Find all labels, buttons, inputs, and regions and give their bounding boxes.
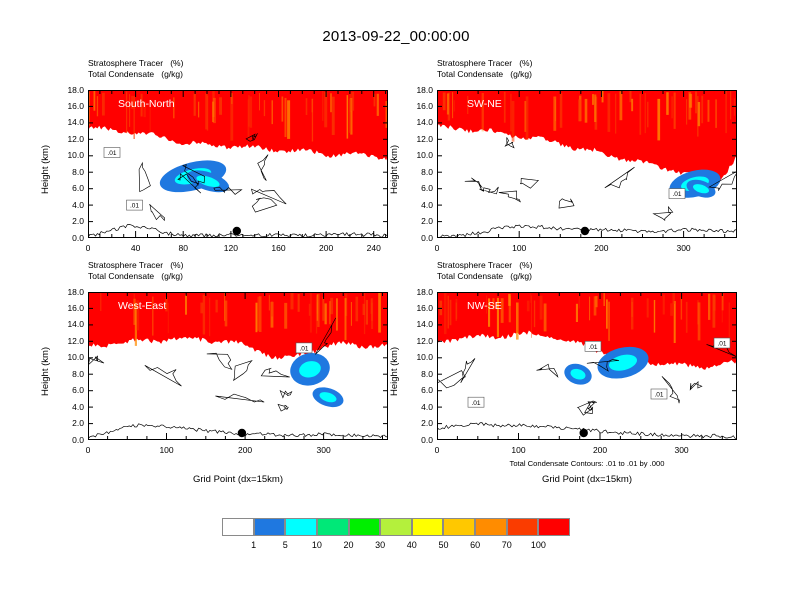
ytick-label: 8.0 <box>403 167 433 177</box>
colorbar-cell[interactable] <box>443 518 475 536</box>
colorbar-cell[interactable] <box>507 518 539 536</box>
svg-text:.01: .01 <box>717 341 726 348</box>
ytick-label: 14.0 <box>403 117 433 127</box>
xtick-label: 200 <box>581 243 621 253</box>
ytick-label: 12.0 <box>403 336 433 346</box>
panel-header-nw-se: Stratosphere Tracer (%)Total Condensate … <box>437 260 532 281</box>
panel-label-sw-ne: SW-NE <box>467 98 502 110</box>
panel-south-north: Stratosphere Tracer (%)Total Condensate … <box>88 90 388 238</box>
figure-title: 2013-09-22_00:00:00 <box>0 28 792 45</box>
colorbar-cell[interactable] <box>317 518 349 536</box>
filled-circle-marker[interactable] <box>581 227 589 235</box>
contour-interval-note: Total Condensate Contours: .01 to .01 by… <box>437 459 737 468</box>
ytick-label: 0.0 <box>403 435 433 445</box>
ytick-label: 18.0 <box>403 85 433 95</box>
contour-label: .01 <box>127 200 143 210</box>
xtick-label: 100 <box>499 445 539 455</box>
ytick-label: 14.0 <box>54 319 84 329</box>
ytick-label: 12.0 <box>54 336 84 346</box>
colorbar-cell[interactable] <box>285 518 317 536</box>
ytick-label: 0.0 <box>403 233 433 243</box>
x-axis-label: Grid Point (dx=15km) <box>88 474 388 485</box>
colorbar-cell[interactable] <box>475 518 507 536</box>
ytick-label: 18.0 <box>54 85 84 95</box>
x-axis-label: Grid Point (dx=15km) <box>437 474 737 485</box>
xtick-label: 160 <box>258 243 298 253</box>
ytick-label: 14.0 <box>403 319 433 329</box>
svg-text:.01: .01 <box>471 400 480 407</box>
contour-label: .01 <box>585 341 601 351</box>
ytick-label: 16.0 <box>54 101 84 111</box>
ytick-label: 2.0 <box>403 418 433 428</box>
panel-header-sw-ne: Stratosphere Tracer (%)Total Condensate … <box>437 58 532 79</box>
ytick-label: 6.0 <box>403 183 433 193</box>
ytick-label: 14.0 <box>54 117 84 127</box>
xtick-label: 0 <box>417 445 457 455</box>
panel-header-west-east: Stratosphere Tracer (%)Total Condensate … <box>88 260 183 281</box>
svg-text:.01: .01 <box>588 344 597 351</box>
xtick-label: 0 <box>68 445 108 455</box>
svg-text:.01: .01 <box>672 191 681 198</box>
contour-label: .01 <box>714 338 730 348</box>
ytick-label: 2.0 <box>403 216 433 226</box>
xtick-label: 200 <box>225 445 265 455</box>
colorbar-cell[interactable] <box>349 518 381 536</box>
svg-text:.01: .01 <box>130 203 139 210</box>
xtick-label: 120 <box>211 243 251 253</box>
ytick-label: 10.0 <box>54 352 84 362</box>
contour-label: .01 <box>651 389 667 399</box>
colorbar-cell[interactable] <box>380 518 412 536</box>
svg-text:.01: .01 <box>654 392 663 399</box>
plot-area-west-east: .01 <box>88 292 388 440</box>
ytick-label: 0.0 <box>54 435 84 445</box>
ytick-label: 2.0 <box>54 216 84 226</box>
header-stratosphere-tracer: Stratosphere Tracer (%) <box>88 260 183 271</box>
plot-area-nw-se: .01.01.01.01 <box>437 292 737 440</box>
panel-label-nw-se: NW-SE <box>467 300 502 312</box>
xtick-label: 240 <box>354 243 394 253</box>
y-axis-label: Height (km) <box>40 347 51 396</box>
ytick-label: 4.0 <box>403 402 433 412</box>
colorbar-cell[interactable] <box>222 518 254 536</box>
xtick-label: 300 <box>304 445 344 455</box>
y-axis-label: Height (km) <box>40 145 51 194</box>
figure-canvas: 2013-09-22_00:00:00 Stratosphere Tracer … <box>0 0 792 612</box>
stratosphere-tracer-colorbar[interactable] <box>222 518 570 536</box>
panel-west-east: Stratosphere Tracer (%)Total Condensate … <box>88 292 388 440</box>
xtick-label: 0 <box>68 243 108 253</box>
xtick-label: 80 <box>163 243 203 253</box>
header-total-condensate: Total Condensate (g/kg) <box>88 69 183 80</box>
xtick-label: 300 <box>662 445 702 455</box>
ytick-label: 4.0 <box>54 200 84 210</box>
xtick-label: 200 <box>306 243 346 253</box>
svg-text:.01: .01 <box>107 150 116 157</box>
xtick-label: 40 <box>116 243 156 253</box>
panel-label-west-east: West-East <box>118 300 166 312</box>
ytick-label: 10.0 <box>403 150 433 160</box>
plot-area-sw-ne: .01 <box>437 90 737 238</box>
contour-label: .01 <box>296 343 312 353</box>
colorbar-cell[interactable] <box>254 518 286 536</box>
ytick-label: 4.0 <box>403 200 433 210</box>
filled-circle-marker[interactable] <box>580 429 588 437</box>
ytick-label: 12.0 <box>403 134 433 144</box>
contour-label: .01 <box>669 189 685 199</box>
colorbar-cell[interactable] <box>412 518 444 536</box>
ytick-label: 6.0 <box>403 385 433 395</box>
filled-circle-marker[interactable] <box>238 429 246 437</box>
ytick-label: 10.0 <box>54 150 84 160</box>
filled-circle-marker[interactable] <box>233 227 241 235</box>
y-axis-label: Height (km) <box>389 347 400 396</box>
xtick-label: 0 <box>417 243 457 253</box>
header-stratosphere-tracer: Stratosphere Tracer (%) <box>437 58 532 69</box>
xtick-label: 100 <box>147 445 187 455</box>
ytick-label: 6.0 <box>54 385 84 395</box>
ytick-label: 8.0 <box>54 369 84 379</box>
header-total-condensate: Total Condensate (g/kg) <box>88 271 183 282</box>
contour-label: .01 <box>468 397 484 407</box>
header-stratosphere-tracer: Stratosphere Tracer (%) <box>437 260 532 271</box>
ytick-label: 16.0 <box>403 303 433 313</box>
ytick-label: 4.0 <box>54 402 84 412</box>
header-total-condensate: Total Condensate (g/kg) <box>437 271 532 282</box>
panel-header-south-north: Stratosphere Tracer (%)Total Condensate … <box>88 58 183 79</box>
xtick-label: 300 <box>664 243 704 253</box>
y-axis-label: Height (km) <box>389 145 400 194</box>
colorbar-tick-label: 100 <box>518 540 558 550</box>
ytick-label: 16.0 <box>403 101 433 111</box>
header-total-condensate: Total Condensate (g/kg) <box>437 69 532 80</box>
header-stratosphere-tracer: Stratosphere Tracer (%) <box>88 58 183 69</box>
svg-text:.01: .01 <box>299 346 308 353</box>
ytick-label: 8.0 <box>54 167 84 177</box>
panel-sw-ne: Stratosphere Tracer (%)Total Condensate … <box>437 90 737 238</box>
xtick-label: 100 <box>499 243 539 253</box>
ytick-label: 18.0 <box>54 287 84 297</box>
panel-nw-se: Stratosphere Tracer (%)Total Condensate … <box>437 292 737 440</box>
ytick-label: 6.0 <box>54 183 84 193</box>
ytick-label: 12.0 <box>54 134 84 144</box>
ytick-label: 18.0 <box>403 287 433 297</box>
ytick-label: 8.0 <box>403 369 433 379</box>
ytick-label: 10.0 <box>403 352 433 362</box>
xtick-label: 200 <box>580 445 620 455</box>
contour-label: .01 <box>104 148 120 158</box>
ytick-label: 2.0 <box>54 418 84 428</box>
plot-area-south-north: .01.01 <box>88 90 388 238</box>
ytick-label: 0.0 <box>54 233 84 243</box>
colorbar-cell[interactable] <box>538 518 570 536</box>
ytick-label: 16.0 <box>54 303 84 313</box>
panel-label-south-north: South-North <box>118 98 175 110</box>
